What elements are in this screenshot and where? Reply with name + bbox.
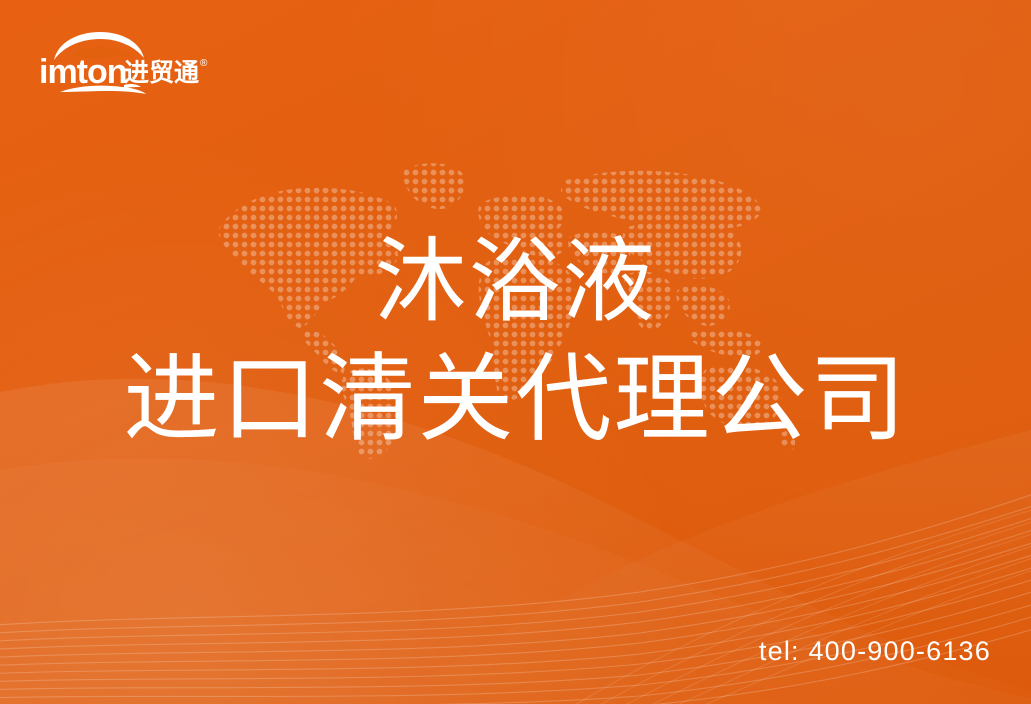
headline: 沐浴液 进口清关代理公司	[0, 228, 1031, 456]
headline-line-2: 进口清关代理公司	[0, 343, 1031, 456]
promo-banner: imton 进贸通 ® 沐浴液 进口清关代理公司 tel: 400-900-61…	[0, 0, 1031, 704]
contact-phone[interactable]: tel: 400-900-6136	[759, 636, 991, 667]
logo-chinese-name: 进贸通	[124, 59, 199, 87]
registered-trademark-icon: ®	[200, 58, 208, 69]
brand-logo[interactable]: imton 进贸通 ®	[38, 30, 213, 98]
headline-line-1: 沐浴液	[0, 228, 1031, 337]
logo-wordmark: imton	[39, 53, 127, 91]
